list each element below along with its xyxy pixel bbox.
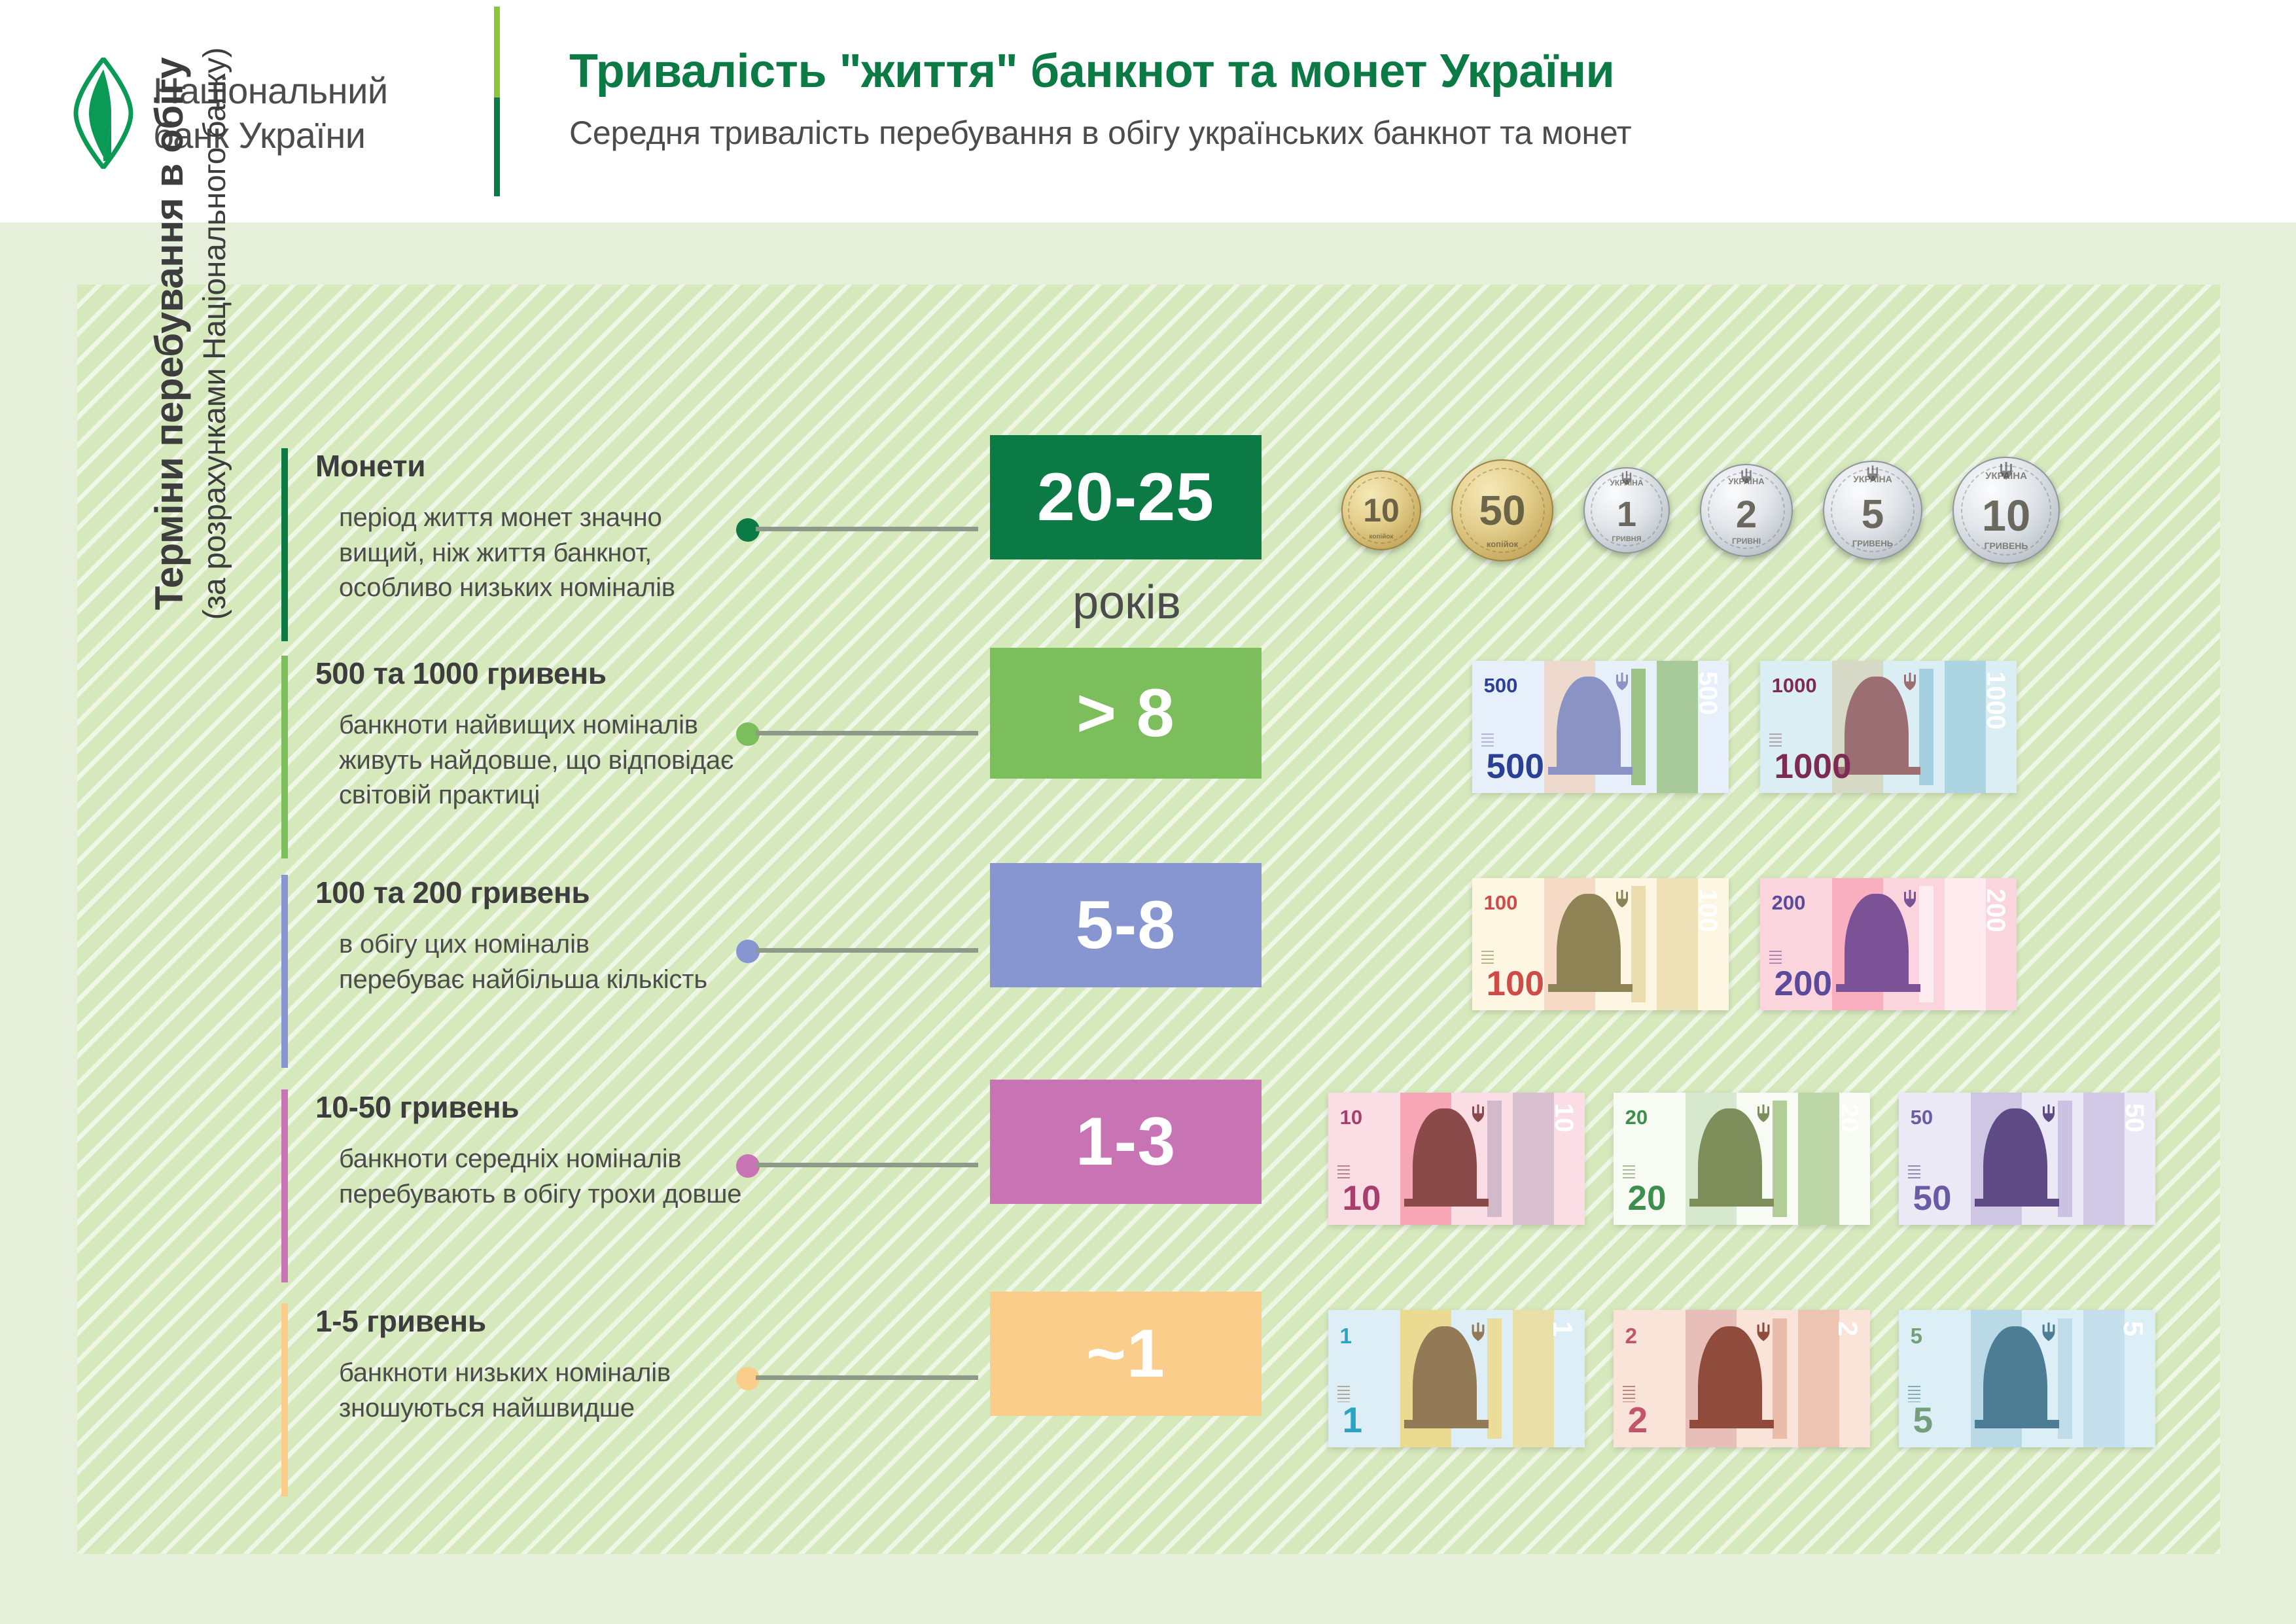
coin-10: УКРАЇНА10ГРИВЕНЬ bbox=[1952, 457, 2060, 564]
banknote-portrait-shoulders bbox=[1404, 1420, 1489, 1428]
banknote-portrait-shoulders bbox=[1689, 1420, 1774, 1428]
row-connector-line bbox=[756, 948, 978, 953]
trident-icon bbox=[1615, 890, 1629, 913]
banknote-denomination-bottom: 2 bbox=[1628, 1399, 1648, 1441]
trident-icon bbox=[1756, 1322, 1771, 1347]
banknote-200: 200200200 bbox=[1760, 878, 2017, 1010]
banknote-denomination-side: 100 bbox=[1693, 889, 1722, 932]
banknote-portrait-shoulders bbox=[1975, 1420, 2059, 1428]
coin-denomination: 5 bbox=[1862, 495, 1884, 535]
nbu-logo: Національний банк України bbox=[73, 58, 388, 169]
banknote-500: 500500500 bbox=[1472, 661, 1729, 793]
banknote-denomination-top: 100 bbox=[1484, 891, 1518, 915]
trident-icon bbox=[1621, 471, 1633, 490]
trident-icon bbox=[1903, 890, 1917, 913]
banknote-pattern bbox=[2058, 1318, 2072, 1439]
row-connector bbox=[736, 1163, 978, 1169]
money-group: 111222555 bbox=[1328, 1310, 2155, 1447]
row-accent-bar bbox=[281, 656, 288, 858]
banknote-pattern bbox=[1773, 1318, 1787, 1439]
coin-subcaption: ГРИВНІ bbox=[1701, 537, 1792, 546]
banknote-pattern bbox=[1487, 1318, 1502, 1439]
chart-row: 500 та 1000 гривеньбанкноти найвищих ном… bbox=[281, 656, 2257, 858]
chart-row: Монетиперіод життя монет значно вищий, н… bbox=[281, 448, 2257, 641]
coin-2: УКРАЇНА2ГРИВНІ bbox=[1700, 464, 1793, 557]
coin-denomination: 1 bbox=[1617, 497, 1636, 532]
banknote-pattern bbox=[1919, 669, 1934, 785]
row-description: період життя монет значно вищий, ніж жит… bbox=[339, 501, 976, 606]
coin-denomination: 50 bbox=[1479, 489, 1525, 531]
banknote-portrait bbox=[1983, 1326, 2047, 1428]
value-box: 20-25 bbox=[990, 435, 1262, 559]
banknote-denomination-side: 1 bbox=[1547, 1321, 1578, 1336]
banknote-security-lines bbox=[1908, 1165, 1921, 1181]
banknote-portrait bbox=[1413, 1326, 1477, 1428]
trident-icon bbox=[2000, 462, 2013, 485]
banknote-portrait bbox=[1698, 1326, 1762, 1428]
trident-icon bbox=[1615, 673, 1629, 696]
banknote-denomination-top: 1000 bbox=[1772, 674, 1817, 697]
banknote-portrait-shoulders bbox=[1836, 984, 1920, 992]
banknote-pattern bbox=[1657, 878, 1698, 1010]
banknote-portrait bbox=[1845, 677, 1909, 774]
trident-icon bbox=[1756, 1104, 1771, 1127]
coin-subcaption: копійок bbox=[1453, 539, 1552, 549]
row-text-block: 100 та 200 гривеньв обігу цих номіналів … bbox=[315, 875, 976, 997]
chart-row: 10-50 гривеньбанкноти середніх номіналів… bbox=[281, 1089, 2257, 1282]
row-accent-bar bbox=[281, 1089, 288, 1282]
banknote-denomination-side: 2 bbox=[1832, 1321, 1863, 1336]
row-description: банкноти найвищих номіналів живуть найдо… bbox=[339, 708, 976, 813]
banknote-pattern bbox=[1773, 1101, 1787, 1217]
banknote-pattern bbox=[1798, 1093, 1839, 1225]
banknote-denomination-bottom: 200 bbox=[1775, 964, 1832, 1004]
value-label: ~1 bbox=[1086, 1315, 1165, 1393]
title-block: Тривалість "життя" банкнот та монет Укра… bbox=[569, 46, 1632, 152]
coin-denomination: 10 bbox=[1363, 494, 1400, 527]
coin-10: 10копійок bbox=[1341, 470, 1421, 550]
banknote-denomination-top: 200 bbox=[1772, 891, 1806, 915]
banknote-pattern bbox=[2083, 1093, 2125, 1225]
banknote-5: 555 bbox=[1899, 1310, 2155, 1447]
coin-denomination: 2 bbox=[1736, 496, 1757, 534]
nbu-logo-text: Національний банк України bbox=[153, 69, 388, 158]
banknote-portrait bbox=[1557, 894, 1621, 991]
row-accent-bar bbox=[281, 1303, 288, 1496]
row-connector bbox=[736, 527, 978, 533]
money-group: 100100100200200200 bbox=[1472, 878, 2017, 1010]
money-group: 500500500100010001000 bbox=[1472, 661, 2017, 793]
chart-row: 100 та 200 гривеньв обігу цих номіналів … bbox=[281, 875, 2257, 1068]
value-label: > 8 bbox=[1076, 675, 1174, 752]
banknote-security-lines bbox=[1337, 1165, 1351, 1181]
banknote-security-lines bbox=[1908, 1386, 1921, 1402]
trident-icon bbox=[1903, 673, 1917, 696]
banknote-denomination-top: 50 bbox=[1911, 1106, 1933, 1129]
banknote-10: 101010 bbox=[1328, 1093, 1585, 1225]
page-title: Тривалість "життя" банкнот та монет Укра… bbox=[569, 46, 1632, 97]
coin-subcaption: ГРИВЕНЬ bbox=[1954, 540, 2058, 551]
row-accent-bar bbox=[281, 448, 288, 641]
row-title: 100 та 200 гривень bbox=[315, 875, 976, 910]
trident-icon bbox=[1867, 465, 1879, 487]
row-description: в обігу цих номіналів перебуває найбільш… bbox=[339, 927, 976, 997]
banknote-portrait-shoulders bbox=[1689, 1199, 1774, 1207]
row-description: банкноти низьких номіналів зношуються на… bbox=[339, 1356, 976, 1426]
value-box: 1-3 bbox=[990, 1080, 1262, 1204]
banknote-1000: 100010001000 bbox=[1760, 661, 2017, 793]
coin-1: УКРАЇНА1ГРИВНЯ bbox=[1583, 467, 1670, 554]
banknote-denomination-bottom: 50 bbox=[1913, 1178, 1952, 1218]
nbu-logo-mark bbox=[73, 58, 133, 169]
trident-icon bbox=[1471, 1104, 1485, 1127]
banknote-50: 505050 bbox=[1899, 1093, 2155, 1225]
coin-subcaption: ГРИВНЯ bbox=[1585, 535, 1669, 543]
banknote-100: 100100100 bbox=[1472, 878, 1729, 1010]
coin-subcaption: копійок bbox=[1343, 533, 1420, 540]
banknote-security-lines bbox=[1769, 733, 1782, 749]
row-title: Монети bbox=[315, 448, 976, 484]
banknote-portrait-shoulders bbox=[1404, 1199, 1489, 1207]
value-box: ~1 bbox=[990, 1292, 1262, 1416]
banknote-denomination-bottom: 20 bbox=[1628, 1178, 1667, 1218]
banknote-portrait bbox=[1845, 894, 1909, 991]
header: Національний банк України Тривалість "жи… bbox=[0, 0, 2296, 222]
banknote-denomination-top: 500 bbox=[1484, 674, 1518, 697]
banknote-denomination-bottom: 100 bbox=[1487, 964, 1544, 1004]
banknote-portrait-shoulders bbox=[1548, 984, 1633, 992]
row-title: 1-5 гривень bbox=[315, 1303, 976, 1339]
banknote-pattern bbox=[1631, 669, 1646, 785]
row-title: 500 та 1000 гривень bbox=[315, 656, 976, 691]
banknote-pattern bbox=[1631, 886, 1646, 1002]
banknote-denomination-bottom: 1000 bbox=[1775, 747, 1852, 786]
banknote-portrait bbox=[1983, 1108, 2047, 1206]
banknote-portrait bbox=[1413, 1108, 1477, 1206]
banknote-denomination-bottom: 5 bbox=[1913, 1399, 1934, 1441]
money-group: 101010202020505050 bbox=[1328, 1093, 2155, 1225]
coin-5: УКРАЇНА5ГРИВЕНЬ bbox=[1823, 461, 1922, 560]
banknote-denomination-bottom: 500 bbox=[1487, 747, 1544, 786]
row-connector bbox=[736, 731, 978, 737]
row-connector-line bbox=[756, 1163, 978, 1167]
banknote-20: 202020 bbox=[1614, 1093, 1870, 1225]
banknote-denomination-side: 5 bbox=[2117, 1321, 2149, 1336]
row-connector-line bbox=[756, 1375, 978, 1380]
value-label: 20-25 bbox=[1037, 459, 1214, 537]
value-box: > 8 bbox=[990, 648, 1262, 779]
trident-icon bbox=[2041, 1104, 2056, 1127]
row-text-block: 10-50 гривеньбанкноти середніх номіналів… bbox=[315, 1089, 976, 1212]
chart-row: 1-5 гривеньбанкноти низьких номіналів зн… bbox=[281, 1303, 2257, 1496]
banknote-security-lines bbox=[1769, 951, 1782, 966]
banknote-1: 111 bbox=[1328, 1310, 1585, 1447]
banknote-denomination-top: 1 bbox=[1340, 1324, 1352, 1349]
banknote-denomination-bottom: 10 bbox=[1343, 1178, 1381, 1218]
row-title: 10-50 гривень bbox=[315, 1089, 976, 1125]
row-connector-line bbox=[756, 731, 978, 735]
trident-icon bbox=[1471, 1322, 1485, 1347]
banknote-denomination-top: 5 bbox=[1911, 1324, 1922, 1349]
banknote-2: 222 bbox=[1614, 1310, 1870, 1447]
banknote-portrait-shoulders bbox=[1975, 1199, 2059, 1207]
banknote-denomination-side: 20 bbox=[1834, 1103, 1863, 1133]
row-connector-line bbox=[756, 527, 978, 531]
banknote-portrait bbox=[1698, 1108, 1762, 1206]
banknote-denomination-bottom: 1 bbox=[1343, 1399, 1363, 1441]
coin-50: 50копійок bbox=[1451, 459, 1553, 561]
row-connector bbox=[736, 1375, 978, 1382]
banknote-denomination-top: 2 bbox=[1625, 1324, 1637, 1349]
banknote-portrait bbox=[1557, 677, 1621, 774]
banknote-security-lines bbox=[1481, 733, 1494, 749]
coin-subcaption: ГРИВЕНЬ bbox=[1824, 538, 1921, 548]
banknote-denomination-top: 20 bbox=[1625, 1106, 1648, 1129]
banknote-security-lines bbox=[1481, 951, 1494, 966]
banknote-denomination-side: 50 bbox=[2119, 1103, 2149, 1133]
banknote-pattern bbox=[1945, 661, 1986, 793]
banknote-security-lines bbox=[1623, 1386, 1636, 1402]
banknote-pattern bbox=[1513, 1093, 1554, 1225]
row-accent-bar bbox=[281, 875, 288, 1068]
banknote-denomination-side: 200 bbox=[1981, 889, 2010, 932]
value-label: 5-8 bbox=[1076, 887, 1176, 964]
banknote-pattern bbox=[1487, 1101, 1502, 1217]
banknote-portrait-shoulders bbox=[1548, 767, 1633, 775]
value-label: 1-3 bbox=[1076, 1103, 1176, 1181]
money-group: 10копійок50копійокУКРАЇНА1ГРИВНЯУКРАЇНА2… bbox=[1341, 445, 2060, 576]
banknote-security-lines bbox=[1337, 1386, 1351, 1402]
header-divider bbox=[494, 7, 500, 196]
banknote-pattern bbox=[2058, 1101, 2072, 1217]
banknote-security-lines bbox=[1623, 1165, 1636, 1181]
value-box: 5-8 bbox=[990, 863, 1262, 987]
trident-icon bbox=[2041, 1322, 2056, 1347]
chart-panel: Терміни перебування в обігу (за розрахун… bbox=[0, 222, 2296, 1624]
coin-denomination: 10 bbox=[1982, 494, 2031, 538]
row-text-block: 1-5 гривеньбанкноти низьких номіналів зн… bbox=[315, 1303, 976, 1426]
trident-icon bbox=[1740, 468, 1752, 489]
banknote-pattern bbox=[1919, 886, 1934, 1002]
banknote-denomination-side: 500 bbox=[1693, 671, 1722, 715]
banknote-pattern bbox=[1945, 878, 1986, 1010]
banknote-denomination-top: 10 bbox=[1340, 1106, 1362, 1129]
row-description: банкноти середніх номіналів перебувають … bbox=[339, 1142, 976, 1212]
banknote-denomination-side: 10 bbox=[1549, 1103, 1578, 1133]
row-connector bbox=[736, 948, 978, 955]
banknote-denomination-side: 1000 bbox=[1981, 671, 2010, 730]
banknote-pattern bbox=[1657, 661, 1698, 793]
page-subtitle: Середня тривалість перебування в обігу у… bbox=[569, 115, 1632, 152]
